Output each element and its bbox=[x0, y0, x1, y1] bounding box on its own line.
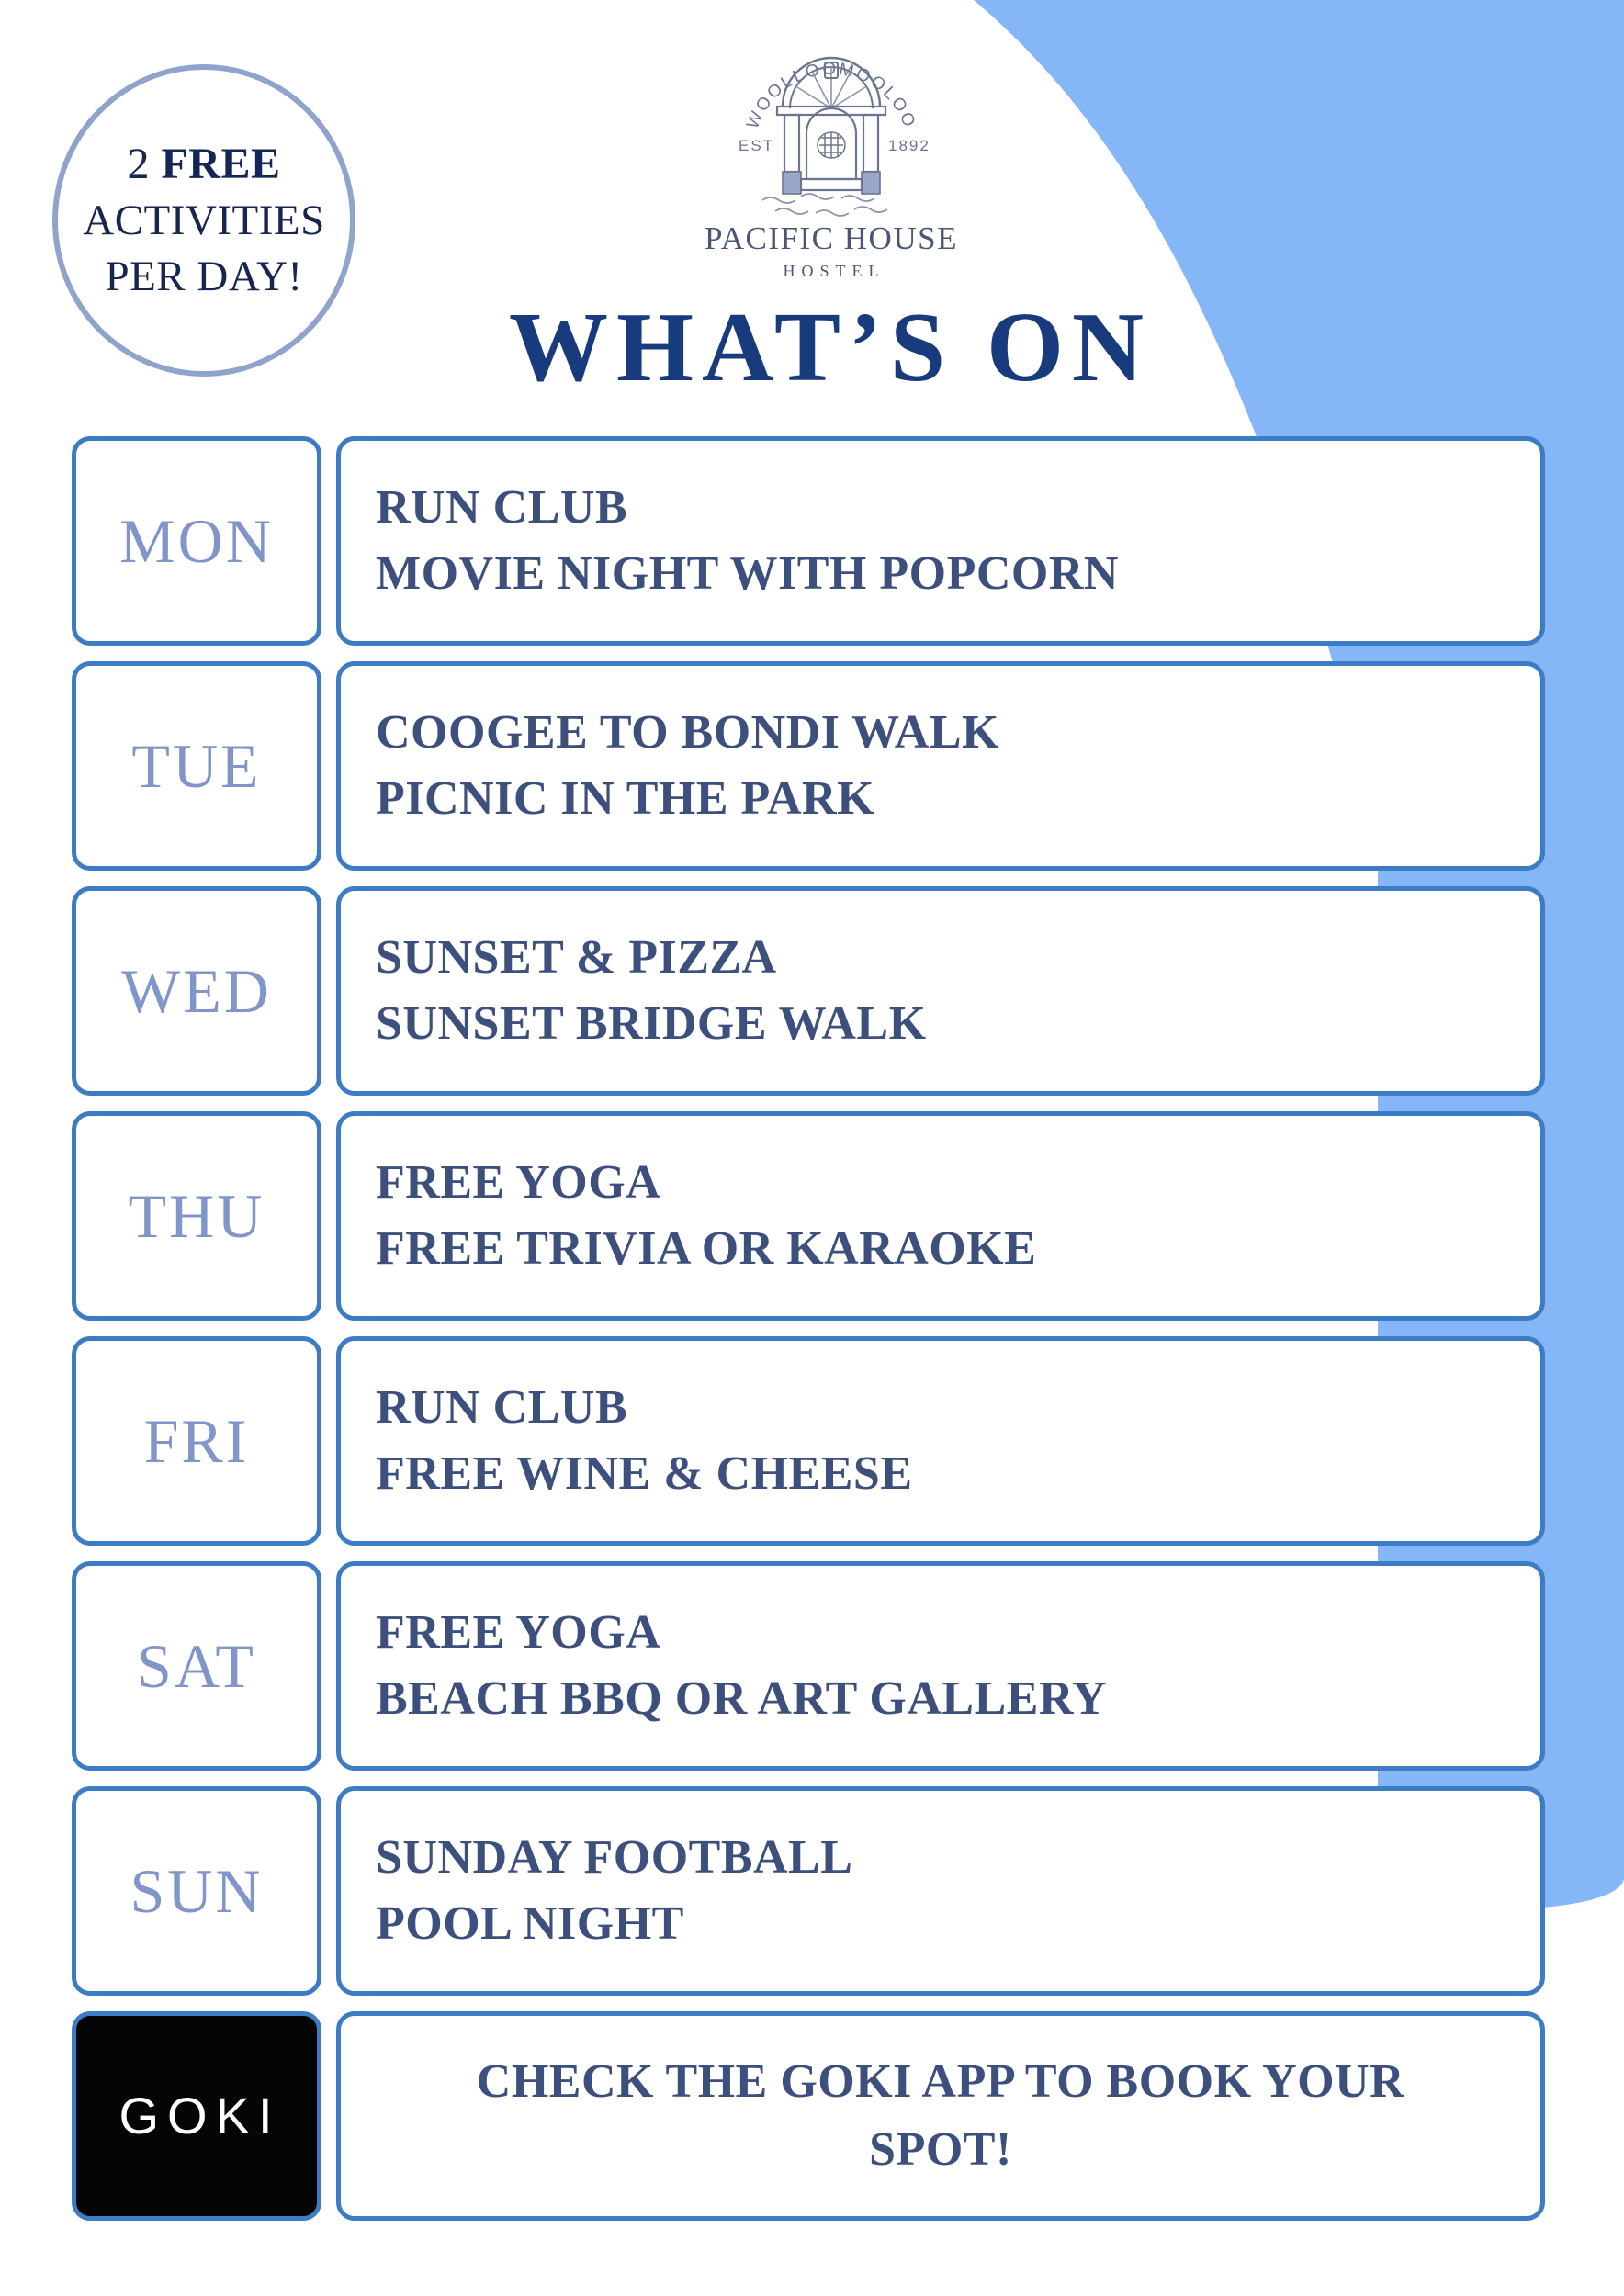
schedule-row-sun: SUN SUNDAY FOOTBALL POOL NIGHT bbox=[0, 1786, 1624, 1996]
schedule-row-fri: FRI RUN CLUB FREE WINE & CHEESE bbox=[0, 1336, 1624, 1546]
badge-count: 2 bbox=[127, 140, 161, 188]
poster-header: 2 FREE ACTIVITIES PER DAY! WOOLLOOMOOLOO bbox=[0, 0, 1624, 422]
logo-est-label: EST bbox=[739, 137, 774, 154]
schedule-row-mon: MON RUN CLUB MOVIE NIGHT WITH POPCORN bbox=[0, 436, 1624, 646]
activities-card-thu: FREE YOGA FREE TRIVIA OR KARAOKE bbox=[336, 1111, 1545, 1321]
activity-line: FREE YOGA bbox=[376, 1600, 1513, 1666]
logo-subtitle: HOSTEL bbox=[778, 263, 885, 279]
day-label-fri: FRI bbox=[144, 1410, 250, 1472]
badge-line-2: ACTIVITIES bbox=[83, 193, 324, 249]
day-label-sun: SUN bbox=[130, 1860, 263, 1922]
day-card-fri: FRI bbox=[72, 1336, 321, 1546]
day-label-sat: SAT bbox=[137, 1635, 256, 1697]
activity-line: RUN CLUB bbox=[376, 1375, 1513, 1441]
activity-line: MOVIE NIGHT WITH POPCORN bbox=[376, 541, 1513, 607]
page-title: WHAT’S ON bbox=[509, 298, 1152, 398]
activity-line: RUN CLUB bbox=[376, 475, 1513, 541]
activity-line: BEACH BBQ OR ART GALLERY bbox=[376, 1666, 1513, 1732]
badge-line-1: 2 FREE bbox=[127, 136, 280, 193]
activity-line: SUNDAY FOOTBALL bbox=[376, 1825, 1513, 1891]
activities-card-mon: RUN CLUB MOVIE NIGHT WITH POPCORN bbox=[336, 436, 1545, 646]
doorway-emblem-icon: WOOLLOOMOOLOO bbox=[698, 37, 964, 220]
schedule-row-wed: WED SUNSET & PIZZA SUNSET BRIDGE WALK bbox=[0, 886, 1624, 1096]
day-card-sat: SAT bbox=[72, 1561, 321, 1771]
activities-card-wed: SUNSET & PIZZA SUNSET BRIDGE WALK bbox=[336, 886, 1545, 1096]
activity-line: FREE WINE & CHEESE bbox=[376, 1441, 1513, 1507]
activity-line: SUNSET & PIZZA bbox=[376, 925, 1513, 991]
day-label-mon: MON bbox=[119, 510, 274, 572]
schedule-row-thu: THU FREE YOGA FREE TRIVIA OR KARAOKE bbox=[0, 1111, 1624, 1321]
day-card-mon: MON bbox=[72, 436, 321, 646]
weekly-schedule: MON RUN CLUB MOVIE NIGHT WITH POPCORN TU… bbox=[0, 436, 1624, 2236]
cta-line-1: CHECK THE GOKI APP TO BOOK YOUR bbox=[477, 2048, 1404, 2116]
activities-card-tue: COOGEE TO BONDI WALK PICNIC IN THE PARK bbox=[336, 661, 1545, 871]
activity-line: FREE TRIVIA OR KARAOKE bbox=[376, 1216, 1513, 1282]
schedule-row-sat: SAT FREE YOGA BEACH BBQ OR ART GALLERY bbox=[0, 1561, 1624, 1771]
activity-line: PICNIC IN THE PARK bbox=[376, 766, 1513, 832]
day-card-sun: SUN bbox=[72, 1786, 321, 1996]
day-label-thu: THU bbox=[129, 1185, 265, 1247]
logo-name: PACIFIC HOUSE bbox=[705, 222, 958, 254]
schedule-row-footer: GOKI CHECK THE GOKI APP TO BOOK YOUR SPO… bbox=[0, 2011, 1624, 2221]
day-card-tue: TUE bbox=[72, 661, 321, 871]
day-label-wed: WED bbox=[121, 960, 272, 1022]
activity-line: FREE YOGA bbox=[376, 1150, 1513, 1216]
day-card-wed: WED bbox=[72, 886, 321, 1096]
badge-free-word: FREE bbox=[161, 140, 280, 188]
activities-card-fri: RUN CLUB FREE WINE & CHEESE bbox=[336, 1336, 1545, 1546]
goki-logo-card[interactable]: GOKI bbox=[72, 2011, 321, 2221]
goki-wordmark: GOKI bbox=[112, 2090, 280, 2142]
activity-line: POOL NIGHT bbox=[376, 1891, 1513, 1957]
whats-on-poster: 2 FREE ACTIVITIES PER DAY! WOOLLOOMOOLOO bbox=[0, 0, 1624, 2296]
booking-cta-card[interactable]: CHECK THE GOKI APP TO BOOK YOUR SPOT! bbox=[336, 2011, 1545, 2221]
activities-card-sun: SUNDAY FOOTBALL POOL NIGHT bbox=[336, 1786, 1545, 1996]
pacific-house-logo: WOOLLOOMOOLOO bbox=[698, 37, 964, 285]
activities-card-sat: FREE YOGA BEACH BBQ OR ART GALLERY bbox=[336, 1561, 1545, 1771]
schedule-row-tue: TUE COOGEE TO BONDI WALK PICNIC IN THE P… bbox=[0, 661, 1624, 871]
page-title-wrap: WHAT’S ON bbox=[0, 298, 1624, 398]
logo-est-year: 1892 bbox=[888, 137, 930, 154]
badge-line-3: PER DAY! bbox=[105, 249, 302, 305]
day-card-thu: THU bbox=[72, 1111, 321, 1321]
cta-line-2: SPOT! bbox=[869, 2116, 1012, 2184]
day-label-tue: TUE bbox=[131, 735, 261, 797]
activity-line: COOGEE TO BONDI WALK bbox=[376, 700, 1513, 766]
activity-line: SUNSET BRIDGE WALK bbox=[376, 991, 1513, 1057]
